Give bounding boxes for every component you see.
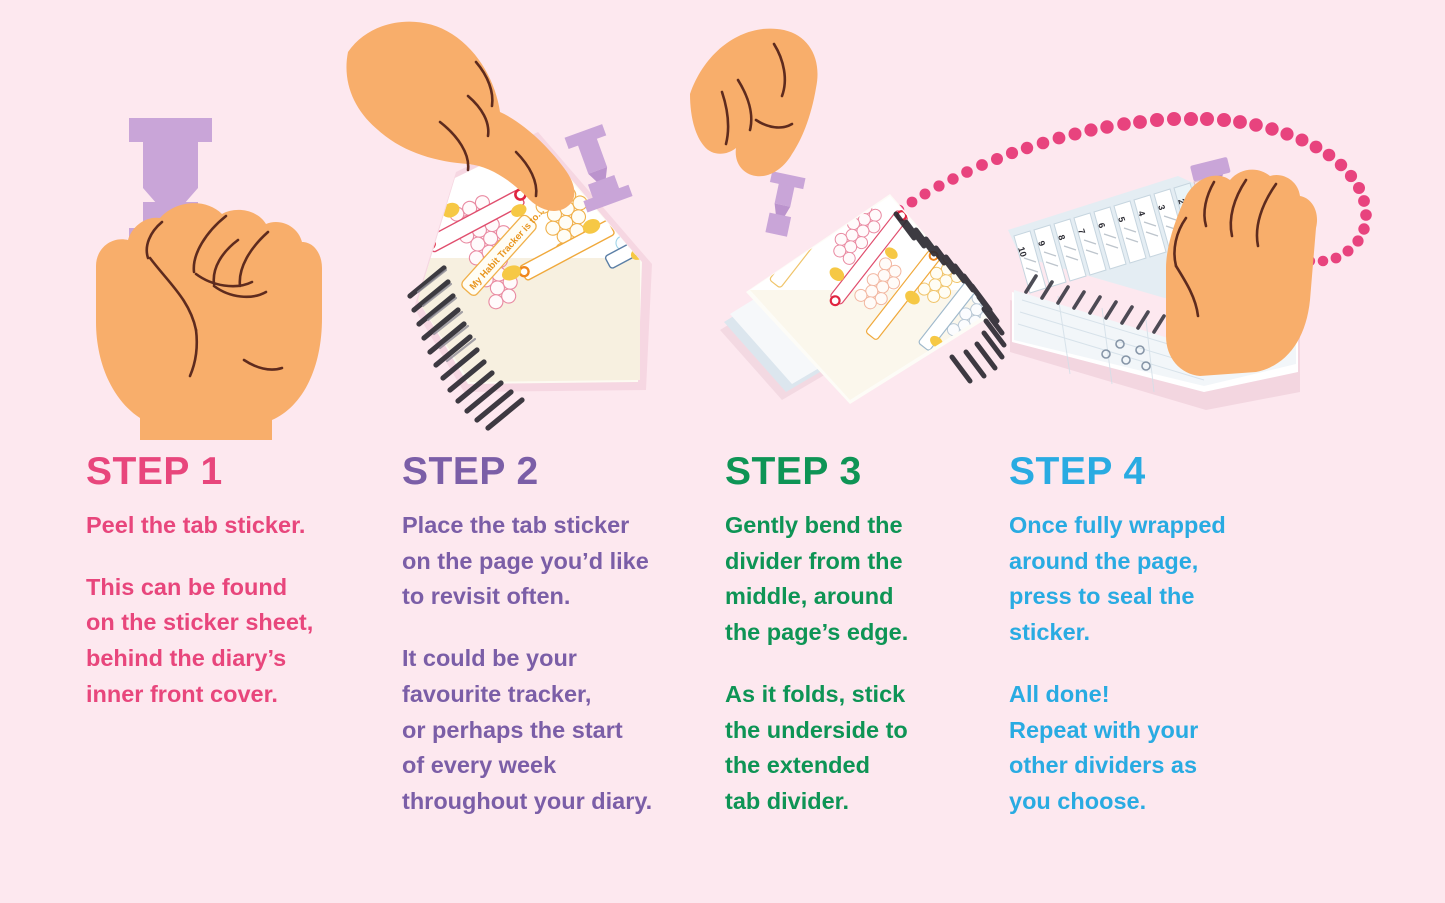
hand-shape: [690, 29, 818, 177]
illustration-hand-placing-sticker-on-habit-tracker-page: My Habit Tracker is to...: [340, 0, 700, 440]
step-3-title: STEP 3: [725, 452, 1005, 491]
step-4-title: STEP 4: [1009, 452, 1329, 491]
hand-shape: [96, 203, 322, 440]
illustration-hand-bending-divider-around-page-edge: My Habit Tracker is to...: [700, 0, 1000, 440]
tab-divider-shape: [760, 171, 806, 238]
step-2-title: STEP 2: [402, 452, 732, 491]
step-2-text: STEP 2 Place the tab sticker on the page…: [402, 452, 732, 820]
step-4-text: STEP 4 Once fully wrapped around the pag…: [1009, 452, 1329, 820]
step-2-paragraph-2: It could be your favourite tracker, or p…: [402, 641, 732, 820]
illustration-hand-pressing-tab-onto-diary-page: 10 9 8 7 6 5 4 3 2 1: [1000, 0, 1445, 440]
step-column-4: 10 9 8 7 6 5 4 3 2 1: [1000, 0, 1445, 903]
step-3-paragraph-2: As it folds, stick the underside to the …: [725, 677, 1005, 820]
step-4-paragraph-2: All done! Repeat with your other divider…: [1009, 677, 1329, 820]
step-column-3: My Habit Tracker is to...: [700, 0, 1000, 903]
step-column-2: My Habit Tracker is to...: [340, 0, 700, 903]
illustration-hand-holding-tab-sticker: [0, 0, 340, 440]
hand-shape: [1166, 170, 1317, 376]
step-3-text: STEP 3 Gently bend the divider from the …: [725, 452, 1005, 820]
step-2-paragraph-1: Place the tab sticker on the page you’d …: [402, 508, 732, 615]
step-3-paragraph-1: Gently bend the divider from the middle,…: [725, 508, 1005, 651]
step-4-paragraph-1: Once fully wrapped around the page, pres…: [1009, 508, 1329, 651]
habit-tracker-page-label-3: My Habit Tracker is to...: [848, 152, 910, 203]
step-column-1: STEP 1 Peel the tab sticker. This can be…: [0, 0, 340, 903]
instruction-board: STEP 1 Peel the tab sticker. This can be…: [0, 0, 1445, 903]
